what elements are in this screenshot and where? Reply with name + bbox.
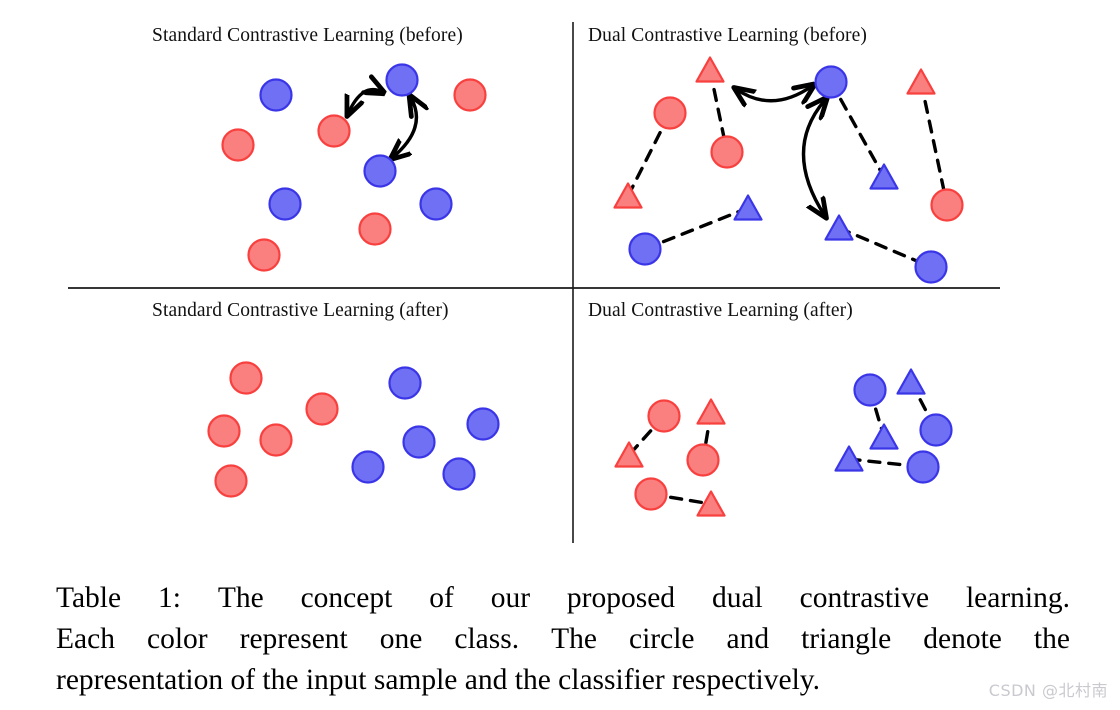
caption-line: representation of the input sample and t… — [56, 660, 1070, 701]
data-point-circle-red — [455, 80, 486, 111]
data-point-circle-blue — [630, 234, 661, 265]
data-point-triangle-red — [697, 58, 724, 82]
data-point-circle-red — [209, 416, 240, 447]
data-point-circle-blue — [353, 452, 384, 483]
data-point-circle-red — [360, 214, 391, 245]
data-point-circle-blue — [387, 65, 418, 96]
arrow-attraction-tr — [804, 100, 826, 216]
data-point-circle-red — [216, 466, 247, 497]
data-point-circle-blue — [921, 415, 952, 446]
data-point-circle-blue — [816, 67, 847, 98]
data-point-triangle-blue — [871, 425, 898, 449]
arrow-repulsion-tl — [348, 90, 382, 114]
data-point-circle-blue — [421, 189, 452, 220]
data-point-circle-red — [649, 401, 680, 432]
data-point-triangle-red — [908, 70, 935, 94]
data-point-circle-blue — [404, 427, 435, 458]
panel-title-top-right: Dual Contrastive Learning (before) — [588, 25, 867, 46]
data-points-layer — [209, 58, 963, 516]
data-point-circle-blue — [444, 459, 475, 490]
data-point-circle-red — [655, 98, 686, 129]
data-point-triangle-blue — [735, 196, 762, 220]
pair-link-dashed — [921, 82, 947, 205]
data-point-triangle-red — [698, 400, 725, 424]
data-point-circle-blue — [261, 80, 292, 111]
data-point-circle-red — [932, 190, 963, 221]
data-point-circle-red — [688, 445, 719, 476]
data-point-circle-blue — [365, 156, 396, 187]
caption-line: Table1:Theconceptofourproposeddualcontra… — [56, 578, 1070, 619]
data-point-circle-blue — [855, 375, 886, 406]
data-point-circle-blue — [908, 452, 939, 483]
contrastive-arrows-layer — [348, 86, 825, 216]
data-point-circle-red — [223, 130, 254, 161]
data-point-circle-red — [712, 137, 743, 168]
data-point-circle-red — [249, 240, 280, 271]
figure-caption: Table1:Theconceptofourproposeddualcontra… — [56, 578, 1070, 701]
data-point-circle-blue — [916, 252, 947, 283]
data-point-circle-blue — [270, 189, 301, 220]
pair-links-layer — [628, 70, 947, 504]
data-point-circle-red — [307, 394, 338, 425]
panel-title-bottom-left: Standard Contrastive Learning (after) — [152, 300, 449, 321]
concept-diagram — [0, 0, 1120, 560]
caption-line: Eachcolorrepresentoneclass.Thecircleandt… — [56, 619, 1070, 660]
data-point-triangle-blue — [871, 165, 898, 189]
data-point-circle-blue — [390, 368, 421, 399]
data-point-circle-red — [231, 363, 262, 394]
panel-title-bottom-right: Dual Contrastive Learning (after) — [588, 300, 853, 321]
panel-title-top-left: Standard Contrastive Learning (before) — [152, 25, 463, 46]
arrow-repulsion-tr — [736, 86, 812, 101]
data-point-circle-red — [319, 116, 350, 147]
data-point-triangle-red — [615, 184, 642, 208]
data-point-circle-red — [261, 425, 292, 456]
pair-link-dashed — [645, 208, 748, 249]
data-point-triangle-blue — [826, 216, 853, 240]
arrow-attraction-tl — [392, 98, 416, 158]
figure-root: Standard Contrastive Learning (before) D… — [0, 0, 1120, 710]
data-point-circle-blue — [468, 409, 499, 440]
data-point-circle-red — [636, 479, 667, 510]
data-point-triangle-blue — [898, 370, 925, 394]
